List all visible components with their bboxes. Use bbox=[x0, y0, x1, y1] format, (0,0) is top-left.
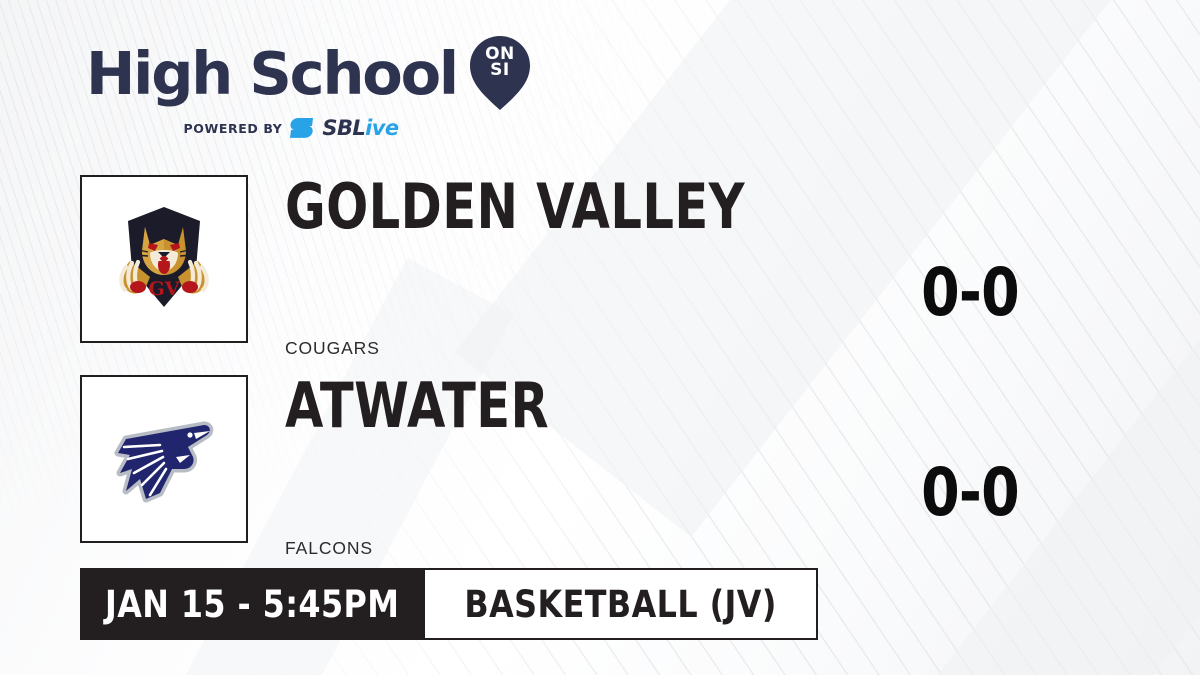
sblive-word-blue: ive bbox=[365, 116, 398, 140]
onsi-pin-text: ON SI bbox=[469, 46, 531, 78]
powered-by-row: POWERED BY SBLive bbox=[86, 117, 496, 139]
game-datetime: JAN 15 - 5:45PM bbox=[80, 568, 425, 640]
game-sport: BASKETBALL (JV) bbox=[425, 568, 818, 640]
onsi-pin-line2: SI bbox=[469, 62, 531, 78]
matchup-graphic: High School ON SI POWERED BY SBLive bbox=[0, 0, 1200, 675]
info-bar: JAN 15 - 5:45PM BASKETBALL (JV) bbox=[80, 568, 818, 640]
cougar-logo: GV bbox=[100, 195, 228, 323]
sblive-bolt-icon bbox=[289, 117, 315, 139]
svg-text:GV: GV bbox=[149, 278, 181, 300]
game-sport-text: BASKETBALL (JV) bbox=[464, 583, 776, 626]
team-record-2: 0-0 bbox=[894, 460, 1045, 526]
sblive-wordmark: SBLive bbox=[322, 118, 398, 139]
team-name-1: GOLDEN VALLEY bbox=[285, 176, 745, 238]
brand-wordmark-row: High School ON SI bbox=[86, 36, 531, 110]
team-mascot-1: COUGARS bbox=[285, 338, 380, 359]
team-record-1: 0-0 bbox=[894, 260, 1045, 326]
brand-wordmark: High School bbox=[86, 44, 457, 103]
team-mascot-2: FALCONS bbox=[285, 538, 373, 559]
game-datetime-text: JAN 15 - 5:45PM bbox=[105, 583, 399, 626]
team-logo-box-1: GV bbox=[80, 175, 248, 343]
powered-by-label: POWERED BY bbox=[184, 121, 283, 136]
team-name-2: ATWATER bbox=[285, 375, 549, 437]
falcon-logo bbox=[100, 395, 228, 523]
onsi-pin-icon: ON SI bbox=[469, 36, 531, 110]
sblive-word-dark: SBL bbox=[322, 116, 365, 140]
brand-logo: High School ON SI POWERED BY SBLive bbox=[86, 36, 531, 139]
team-logo-box-2 bbox=[80, 375, 248, 543]
